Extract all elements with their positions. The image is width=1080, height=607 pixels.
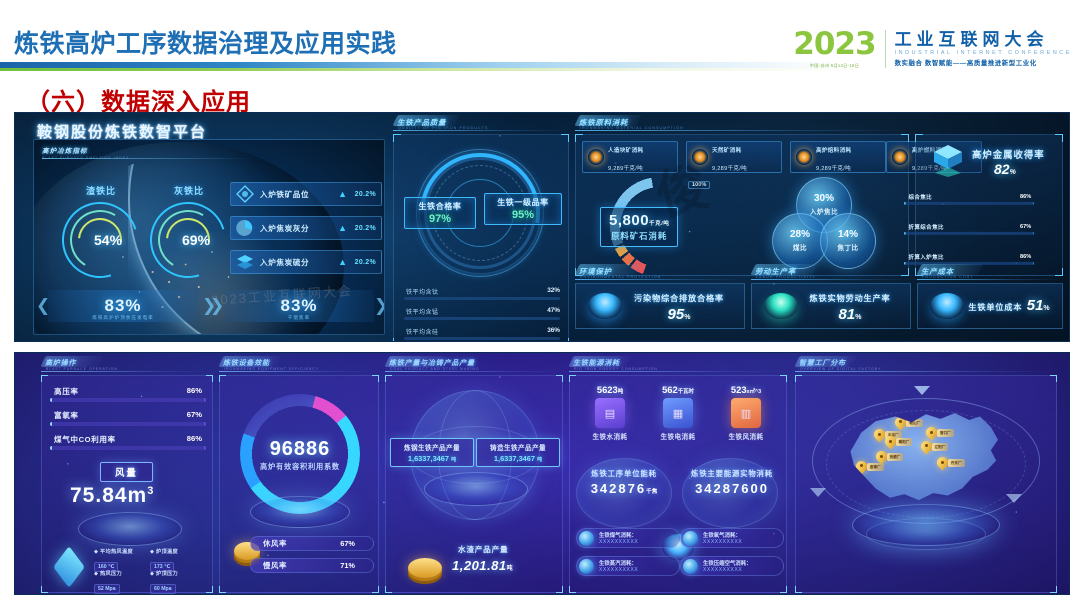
environment-card: 污染物综合排放合格率 95%	[575, 283, 745, 329]
indicator-value-coke-sulfur: 20.2%	[355, 259, 376, 266]
venn-pct-2: 28%	[790, 230, 810, 240]
ore-grade-icon	[235, 184, 255, 204]
production-panel: 炼铁产量与冶铸产品产量 COAL PRODUCT AND STEEL MAKIN…	[385, 359, 563, 593]
energy-big-unit-consumption: 炼铁工序单位能耗 342876千焦	[572, 468, 676, 496]
operation-value-3: 86%	[187, 434, 202, 443]
cost-panel: 生产成本 PRODUCTION COST 生铁单位成本 51%	[917, 267, 1063, 329]
quality-panel-body: 生铁合格率 97% 生铁一级品率 95% 铁平均含钛 32% 铁平均含锰 47%…	[393, 134, 569, 342]
ore-gear-icon-4	[892, 149, 908, 165]
productivity-panel: 劳动生产率 LABOR PRODUCTIVITY 炼铁实物劳动生产率 81%	[751, 267, 911, 329]
gauge-badge-pct: 100%	[688, 181, 710, 189]
material-gauge-value: 5,800千克/吨	[609, 212, 669, 229]
energy-header: 生铁能源消耗 PIG IRON ENERGY CONSUMPTION	[569, 359, 787, 375]
chip-first-grade-rate: 生铁一级品率 95%	[484, 193, 562, 225]
yield-label-2: 折算综合焦比	[908, 223, 943, 231]
venn-pct-1: 30%	[814, 194, 834, 204]
quality-bar-value-si: 36%	[547, 327, 560, 334]
map-pin-4[interactable]: 朝阳厂	[885, 436, 896, 451]
donut-center-block: 96886 高炉有效容积利用系数	[240, 438, 360, 472]
layers-icon	[235, 252, 255, 272]
conference-year-block: 2023 中国·苏州 9月14日-16日	[793, 29, 884, 69]
wind-volume-value: 75.84m3	[70, 484, 154, 508]
ore-gear-icon-1	[588, 149, 604, 165]
gauge-label-slag-iron: 渣铁比	[86, 184, 116, 197]
wind-consumption-icon: ▥	[731, 398, 761, 428]
conference-year: 2023	[793, 29, 875, 60]
energy-pill-steam[interactable]: 生铁蒸汽消耗： XXXXXXXXXX	[576, 556, 680, 576]
energy-pill-masked-3: XXXXXXXXXX	[599, 567, 638, 573]
material-card-natural-ore: 天然矿消耗 9,289千克/吨	[686, 141, 782, 173]
venn-name-3: 焦丁比	[837, 242, 858, 252]
energy-card-electricity: 562千瓦时 ▦ 生铁电消耗	[650, 384, 706, 441]
indicator-row-ore-grade[interactable]: 入炉铁矿品位 ▲ 20.2%	[230, 182, 382, 206]
energy-pill-title-4: 生铁压缩空气消耗：	[703, 559, 752, 567]
slide-header: 炼铁高炉工序数据治理及应用实践 2023 中国·苏州 9月14日-16日 工业互…	[0, 0, 1080, 82]
map-header-en: OVERVIEW OF DIGITAL FACTORY	[800, 367, 881, 371]
energy-number-1: 5623吨	[582, 384, 638, 395]
quality-bar-label-si: 铁平均含硅	[406, 327, 439, 336]
energy-pill-title-1: 生铁煤气消耗：	[599, 531, 637, 539]
oxygen-bubble-icon	[683, 531, 698, 546]
environment-header-en: ENVIRONMENTAL PROTECTION	[580, 275, 662, 279]
energy-panel: 生铁能源消耗 PIG IRON ENERGY CONSUMPTION 5623吨…	[569, 359, 787, 593]
energy-big-title-1: 炼铁工序单位能耗	[572, 468, 676, 479]
pill-value-2: 71%	[340, 561, 355, 570]
smelting-index-header: 高炉冶炼指标 BLAST FURNACE SMELTING INDEX	[42, 145, 130, 160]
map-body: 鞍山厂 本溪厂 营口厂 朝阳厂 辽阳厂	[795, 375, 1057, 593]
energy-header-en: PIG IRON ENERGY CONSUMPTION	[574, 367, 658, 371]
energy-card-water: 5623吨 ▤ 生铁水消耗	[582, 384, 638, 441]
environment-header: 环境保护 ENVIRONMENTAL PROTECTION	[575, 267, 745, 283]
mini-value-3: 52 Mpa	[94, 584, 120, 594]
cube-icon	[930, 143, 966, 177]
yield-value-1: 86%	[1020, 193, 1031, 200]
conference-name-block: 工业互联网大会 INDUSTRIAL INTERNET CONFERENCE 数…	[895, 31, 1072, 67]
quality-panel: 生铁产品质量 QUALITY OF PIG IRON PRODUCTS 生铁合格…	[393, 118, 569, 342]
yield-label-1: 综合焦比	[908, 193, 932, 201]
operation-value-2: 67%	[187, 410, 202, 419]
band-value-1: 83%	[104, 296, 141, 316]
operation-label-2: 富氧率	[54, 410, 79, 421]
band-value-2: 83%	[280, 296, 317, 316]
pill-row-slow-wind-rate[interactable]: 慢风率 71%	[250, 558, 374, 573]
chevron-right-icon-3: ❯	[374, 296, 385, 316]
material-card-bf-burden: 高炉焙料消耗 9,289千克/吨	[790, 141, 886, 173]
chip-label-qualified: 生铁合格率	[409, 201, 471, 212]
material-panel-body: 人造块矿消耗 9,289千克/吨 天然矿消耗 9,289千克/吨 高炉焙料消耗 …	[575, 134, 909, 276]
quality-bar-label-ti: 铁平均含钛	[406, 287, 439, 296]
water-consumption-icon: ▤	[595, 398, 625, 428]
metal-yield-value: 82%	[994, 161, 1016, 177]
yield-value-3: 86%	[1020, 253, 1031, 260]
map-pin-5[interactable]: 辽阳厂	[921, 441, 932, 456]
production-body: 炼钢生铁产品产量 1,6337,3467 吨 铸造生铁产品产量 1,6337,3…	[385, 375, 563, 593]
slag-value: 1,201.81吨	[452, 558, 513, 573]
energy-pill-masked-4: XXXXXXXXXX	[703, 567, 742, 573]
energy-pill-gas[interactable]: 生铁煤气消耗： XXXXXXXXXX	[576, 528, 680, 548]
venn-name-2: 煤比	[793, 242, 807, 252]
indicator-row-coke-ash[interactable]: 入炉焦炭灰分 ▲ 20.2%	[230, 216, 382, 240]
cost-header-en: PRODUCTION COST	[922, 275, 974, 279]
production-header: 炼铁产量与冶铸产品产量 COAL PRODUCT AND STEEL MAKIN…	[385, 359, 563, 375]
equipment-header-en: IRONMAKING EQUIPMENT EFFICIENCY	[224, 367, 319, 371]
environment-label: 污染物综合排放合格率	[634, 294, 724, 303]
mini-label-4: ◆ 炉顶压力	[150, 570, 178, 577]
electricity-consumption-icon: ▦	[663, 398, 693, 428]
energy-caption-1: 生铁水消耗	[582, 431, 638, 441]
metal-yield-body: 高炉金属收得率 82% 综合焦比 86% 折算综合焦比 67% 折算入炉焦比 8…	[915, 134, 1063, 276]
gauge-value-grey-iron: 69%	[182, 232, 210, 248]
prod-chip-value-2: 1,6337,3467 吨	[481, 454, 555, 463]
band-sub-2: 干熄焦率	[288, 315, 310, 321]
chip-steelmaking-pig-iron: 炼钢生铁产品产量 1,6337,3467 吨	[390, 438, 474, 467]
metal-yield-title: 高炉金属收得率	[972, 147, 1045, 161]
gauge-value-slag-iron: 54%	[94, 232, 122, 248]
map-pin-8[interactable]: 丹东厂	[937, 457, 948, 472]
equipment-platter-graphic	[250, 496, 350, 528]
indicator-value-coke-ash: 20.2%	[355, 225, 376, 232]
arrow-up-icon-3: ▲	[338, 257, 347, 267]
yield-value-2: 67%	[1020, 223, 1031, 230]
slag-title: 水渣产品产量	[458, 544, 508, 555]
chevron-left-icon: ❮	[36, 296, 50, 316]
mini-value-4: 60 Mpa	[150, 584, 176, 594]
yield-label-3: 折算入炉焦比	[908, 253, 943, 261]
conference-name-en: INDUSTRIAL INTERNET CONFERENCE	[895, 50, 1072, 56]
mini-label-2: ◆ 炉顶温度	[150, 548, 178, 555]
energy-pill-oxygen[interactable]: 生铁氧气消耗： XXXXXXXXXX	[680, 528, 784, 548]
indicator-label-coke-sulfur: 入炉焦炭硫分	[260, 257, 309, 268]
band-dry-quenching: 83% 干熄焦率	[224, 290, 374, 322]
indicator-row-coke-sulfur[interactable]: 入炉焦炭硫分 ▲ 20.2%	[230, 250, 382, 274]
venn-circle-nut-coke-ratio: 14% 焦丁比	[820, 213, 876, 269]
pill-value-1: 67%	[340, 539, 355, 548]
productivity-value: 81%	[839, 306, 862, 323]
energy-body: 5623吨 ▤ 生铁水消耗 562千瓦时 ▦ 生铁电消耗 523x㎡^3 ▥ 生…	[569, 375, 787, 593]
coke-ratio-venn: 30% 入炉焦比 28% 煤比 14% 焦丁比	[772, 177, 876, 269]
chip-casting-pig-iron: 铸造生铁产品产量 1,6337,3467 吨	[476, 438, 560, 467]
dashboard-bottom-screenshot: 高炉操作 BLAST FURNACE OPERATION 高压率 86% 富氧率…	[14, 352, 1070, 595]
smelting-index-header-en: BLAST FURNACE SMELTING INDEX	[42, 156, 130, 160]
arrow-up-icon-2: ▲	[338, 223, 347, 233]
mini-label-1: ◆ 平均热风温度	[94, 548, 133, 555]
material-card-artificial-ore: 人造块矿消耗 9,289千克/吨	[582, 141, 678, 173]
energy-number-2: 562千瓦时	[650, 384, 706, 395]
prod-chip-value-1: 1,6337,3467 吨	[395, 454, 469, 463]
map-panel: 智慧工厂分布 OVERVIEW OF DIGITAL FACTORY 鞍山厂 本…	[795, 359, 1057, 593]
donut-label: 高炉有效容积利用系数	[240, 462, 360, 472]
map-pin-tag-3: 营口厂	[937, 429, 954, 437]
energy-big-value-2: 34287600	[678, 481, 786, 496]
material-gauge-label: 原料矿石消耗	[609, 230, 669, 242]
material-label-3: 高炉焙料消耗	[816, 148, 851, 154]
smelting-index-panel: 高炉冶炼指标 BLAST FURNACE SMELTING INDEX 渣铁比 …	[33, 139, 385, 335]
map-marker-triangle-right	[1006, 494, 1022, 503]
material-panel-header: 炼铁原料消耗 IRONMAKING MATERIAL CONSUMPTION	[575, 118, 909, 134]
cost-orb-icon	[930, 293, 964, 319]
equipment-body: 96886 高炉有效容积利用系数 休风率 67% 慢风率 71%	[219, 375, 379, 593]
pollution-orb-icon	[588, 293, 622, 319]
chip-value-qualified: 97%	[409, 213, 471, 225]
pie-chart-icon	[235, 218, 255, 238]
dashboard-top-screenshot: 鞍钢股份炼铁数智平台 高炉冶炼指标 BLAST FURNACE SMELTING…	[14, 112, 1070, 342]
energy-big-physical-consumption: 炼铁主要能源实物消耗 34287600	[678, 468, 786, 496]
map-marker-triangle-left	[810, 488, 826, 497]
metal-yield-panel: 高炉金属收得率 82% 综合焦比 86% 折算综合焦比 67% 折算入炉焦比 8…	[915, 118, 1063, 276]
mini-stat-top-pressure: ◆ 炉顶压力 60 Mpa	[150, 570, 178, 595]
cost-label: 生铁单位成本	[968, 303, 1022, 312]
equipment-header: 炼铁设备效能 IRONMAKING EQUIPMENT EFFICIENCY	[219, 359, 379, 375]
arrow-up-icon-1: ▲	[338, 189, 347, 199]
material-gauge-chip: 5,800千克/吨 原料矿石消耗	[600, 207, 678, 247]
gas-bubble-icon	[579, 531, 594, 546]
quality-bar-label-mn: 铁平均含锰	[406, 307, 439, 316]
map-pin-tag-5: 辽阳厂	[932, 443, 949, 451]
production-platter-graphic	[424, 472, 528, 506]
energy-big-value-1: 342876千焦	[572, 481, 676, 496]
conference-slogan: 数实融合 数智赋能——高质量推进新型工业化	[895, 58, 1072, 67]
chevron-right-icon-2: ❯	[210, 296, 224, 316]
energy-number-3: 523x㎡^3	[718, 384, 774, 395]
ore-gear-icon-3	[796, 149, 812, 165]
operation-body: 高压率 86% 富氧率 67% 煤气中CO利用率 86% 风量 75.84m3 …	[41, 375, 213, 593]
smelting-index-header-cn: 高炉冶炼指标	[42, 145, 130, 155]
equipment-panel: 炼铁设备效能 IRONMAKING EQUIPMENT EFFICIENCY 9…	[219, 359, 379, 593]
donut-value: 96886	[240, 438, 360, 461]
map-pin-tag-4: 朝阳厂	[896, 438, 913, 446]
cost-card: 生铁单位成本 51%	[917, 283, 1063, 329]
productivity-orb-icon	[764, 293, 798, 319]
energy-pill-title-3: 生铁蒸汽消耗：	[599, 559, 637, 567]
chip-label-first-grade: 生铁一级品率	[489, 197, 557, 208]
pill-row-blow-off-rate[interactable]: 休风率 67%	[250, 536, 374, 551]
operation-header-en: BLAST FURNACE OPERATION	[46, 367, 118, 371]
energy-pill-masked-2: XXXXXXXXXX	[703, 539, 742, 545]
diamond-icon	[53, 546, 85, 588]
venn-name-1: 入炉焦比	[810, 206, 838, 216]
conference-place-date: 中国·苏州 9月14日-16日	[793, 63, 875, 69]
map-pin-tag-8: 丹东厂	[948, 459, 965, 467]
energy-caption-2: 生铁电消耗	[650, 431, 706, 441]
page-title: 炼铁高炉工序数据治理及应用实践	[14, 24, 397, 60]
productivity-header: 劳动生产率 LABOR PRODUCTIVITY	[751, 267, 911, 283]
environment-panel: 环境保护 ENVIRONMENTAL PROTECTION 污染物综合排放合格率…	[575, 267, 745, 329]
indicator-label-ore-grade: 入炉铁矿品位	[260, 189, 309, 200]
steam-bubble-icon	[579, 559, 594, 574]
ore-gear-icon-2	[692, 149, 708, 165]
operation-panel: 高炉操作 BLAST FURNACE OPERATION 高压率 86% 富氧率…	[41, 359, 213, 593]
band-sub-1: 炼铁高炉炉顶余压发电率	[92, 315, 154, 321]
operation-label-3: 煤气中CO利用率	[54, 434, 116, 445]
material-label-2: 天然矿消耗	[712, 148, 741, 154]
indicator-value-ore-grade: 20.2%	[355, 191, 376, 198]
logo-divider	[885, 30, 886, 68]
cost-value: 51%	[1027, 297, 1050, 314]
productivity-header-en: LABOR PRODUCTIVITY	[756, 275, 816, 279]
indicator-label-coke-ash: 入炉焦炭灰分	[260, 223, 309, 234]
quality-bar-value-mn: 47%	[547, 307, 560, 314]
chip-value-first-grade: 95%	[489, 209, 557, 221]
operation-label-1: 高压率	[54, 386, 79, 397]
map-header: 智慧工厂分布 OVERVIEW OF DIGITAL FACTORY	[795, 359, 1057, 375]
conference-name-cn: 工业互联网大会	[895, 31, 1072, 49]
band-top-pressure-power: 83% 炼铁高炉炉顶余压发电率	[48, 290, 198, 322]
operation-value-1: 86%	[187, 386, 202, 395]
environment-value: 95%	[668, 306, 691, 323]
wind-volume-label: 风量	[100, 462, 153, 482]
material-value-1: 9,289千克/吨	[608, 166, 643, 172]
productivity-card: 炼铁实物劳动生产率 81%	[751, 283, 911, 329]
map-pin-tag-6: 抚顺厂	[887, 453, 904, 461]
material-label-1: 人造块矿消耗	[608, 148, 643, 154]
pill-label-1: 休风率	[263, 538, 287, 549]
chip-qualified-rate: 生铁合格率 97%	[404, 197, 476, 229]
quality-panel-header: 生铁产品质量 QUALITY OF PIG IRON PRODUCTS	[393, 118, 569, 134]
material-header-en: IRONMAKING MATERIAL CONSUMPTION	[580, 126, 684, 130]
energy-pill-compressed-air[interactable]: 生铁压缩空气消耗： XXXXXXXXXX	[680, 556, 784, 576]
prod-chip-title-1: 炼钢生铁产品产量	[395, 442, 469, 452]
material-value-3: 9,289千克/吨	[816, 166, 851, 172]
mini-stat-hot-blast-pressure: ◆ 热风压力 52 Mpa	[94, 570, 122, 595]
energy-card-wind: 523x㎡^3 ▥ 生铁风消耗	[718, 384, 774, 441]
map-marker-triangle-top	[914, 386, 930, 395]
gauge-label-grey-iron: 灰铁比	[174, 184, 204, 197]
conference-logo: 2023 中国·苏州 9月14日-16日 工业互联网大会 INDUSTRIAL …	[793, 26, 1072, 72]
slag-coin-icon	[408, 558, 442, 578]
material-panel: 炼铁原料消耗 IRONMAKING MATERIAL CONSUMPTION 人…	[575, 118, 909, 276]
map-base-platform-inner	[866, 518, 986, 550]
energy-pill-masked-1: XXXXXXXXXX	[599, 539, 638, 545]
prod-chip-title-2: 铸造生铁产品产量	[481, 442, 555, 452]
map-pin-tag-7: 盘锦厂	[867, 463, 884, 471]
quality-header-en: QUALITY OF PIG IRON PRODUCTS	[398, 126, 488, 130]
energy-big-title-2: 炼铁主要能源实物消耗	[678, 468, 786, 479]
material-value-2: 9,289千克/吨	[712, 166, 747, 172]
energy-caption-3: 生铁风消耗	[718, 431, 774, 441]
compressed-air-bubble-icon	[683, 559, 698, 574]
pill-label-2: 慢风率	[263, 560, 287, 571]
operation-header: 高炉操作 BLAST FURNACE OPERATION	[41, 359, 213, 375]
mini-label-3: ◆ 热风压力	[94, 570, 122, 577]
wind-platter-graphic	[78, 512, 182, 546]
production-header-en: COAL PRODUCT AND STEEL MAKING	[390, 367, 480, 371]
venn-pct-3: 14%	[838, 230, 858, 240]
productivity-label: 炼铁实物劳动生产率	[810, 294, 891, 303]
quality-bar-value-ti: 32%	[547, 287, 560, 294]
energy-pill-title-2: 生铁氧气消耗：	[703, 531, 741, 539]
cost-header: 生产成本 PRODUCTION COST	[917, 267, 1063, 283]
map-pin-2[interactable]: 本溪厂	[874, 429, 885, 444]
